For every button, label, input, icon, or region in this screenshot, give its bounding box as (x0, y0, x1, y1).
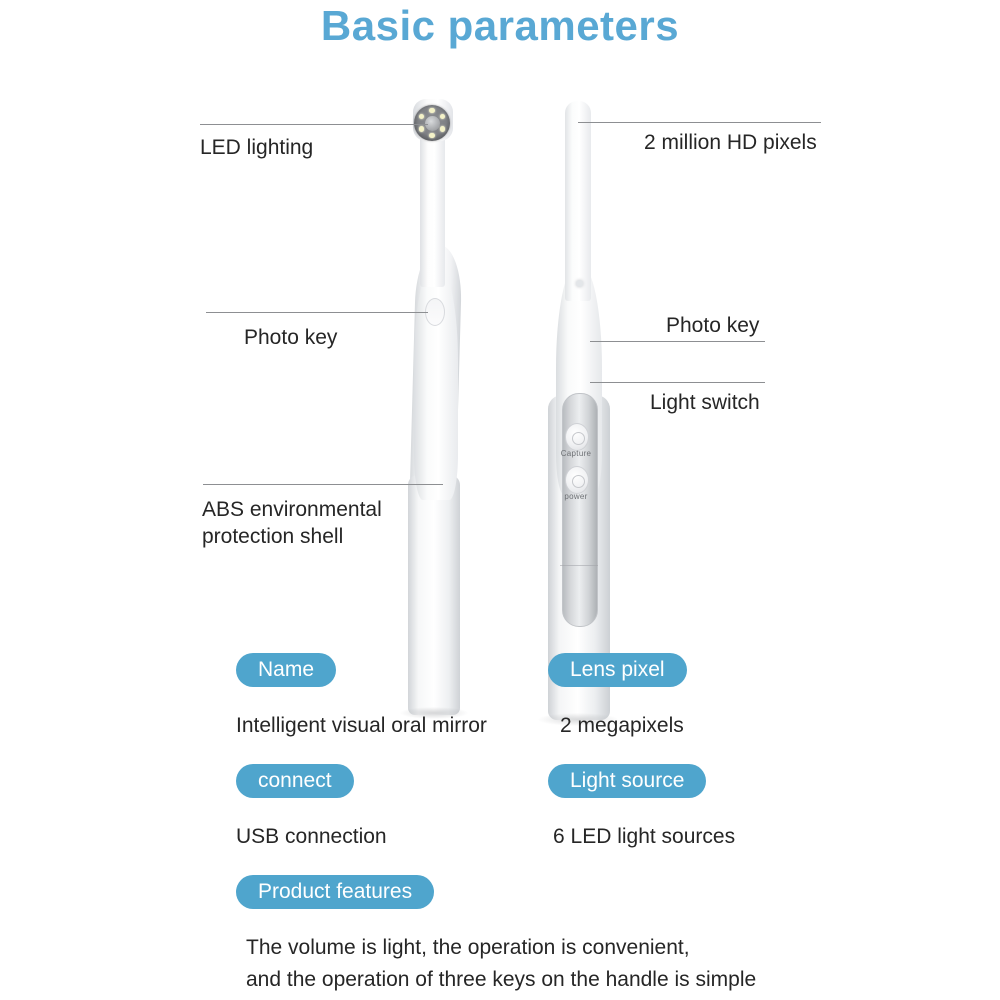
led-dot (440, 126, 446, 132)
spec-label-light-source: Light source (548, 764, 706, 798)
leader-line-hd-pixels (578, 122, 821, 123)
led-dot (419, 126, 425, 132)
spec-label-connect: connect (236, 764, 354, 798)
spec-value-light-source: 6 LED light sources (553, 825, 735, 849)
device-front-seam (560, 565, 598, 566)
device-side-photo-key[interactable] (425, 298, 445, 326)
callout-light-switch: Light switch (650, 389, 760, 416)
spec-label-lens-pixel: Lens pixel (548, 653, 687, 687)
led-ring-icon (414, 105, 450, 141)
leader-line-photo-key-right (590, 341, 765, 342)
power-button-caption: power (546, 492, 606, 501)
product-features-line-2: and the operation of three keys on the h… (246, 964, 756, 996)
leader-line-abs-shell (203, 484, 443, 485)
product-spec-infographic: Basic parameters Capture (0, 0, 1000, 1000)
callout-photo-key-left: Photo key (244, 324, 337, 351)
leader-line-photo-key-left (206, 312, 428, 313)
indicator-light-icon (576, 280, 583, 287)
spec-value-name: Intelligent visual oral mirror (236, 714, 487, 738)
product-features-line-1: The volume is light, the operation is co… (246, 932, 690, 964)
camera-lens-icon (425, 116, 440, 131)
device-front-neck (565, 101, 591, 301)
power-button[interactable] (565, 466, 589, 494)
led-dot (429, 133, 435, 139)
callout-photo-key-right: Photo key (666, 312, 759, 339)
spec-value-connect: USB connection (236, 825, 387, 849)
led-dot (440, 114, 446, 120)
leader-line-light-switch (590, 382, 765, 383)
callout-hd-pixels: 2 million HD pixels (644, 129, 817, 156)
spec-label-product-features: Product features (236, 875, 434, 909)
callout-abs-shell: ABS environmental protection shell (202, 496, 462, 550)
camera-icon (572, 432, 585, 445)
light-bulb-icon (572, 475, 585, 488)
device-front-view: Capture power (538, 95, 618, 640)
capture-button-caption: Capture (546, 449, 606, 458)
leader-line-led-lighting (200, 124, 428, 125)
capture-button[interactable] (565, 423, 589, 451)
device-side-view (398, 95, 472, 640)
led-dot (429, 108, 435, 114)
callout-led-lighting: LED lighting (200, 134, 313, 161)
spec-label-name: Name (236, 653, 336, 687)
page-title: Basic parameters (0, 2, 1000, 50)
led-dot (419, 114, 425, 120)
spec-value-lens-pixel: 2 megapixels (560, 714, 684, 738)
